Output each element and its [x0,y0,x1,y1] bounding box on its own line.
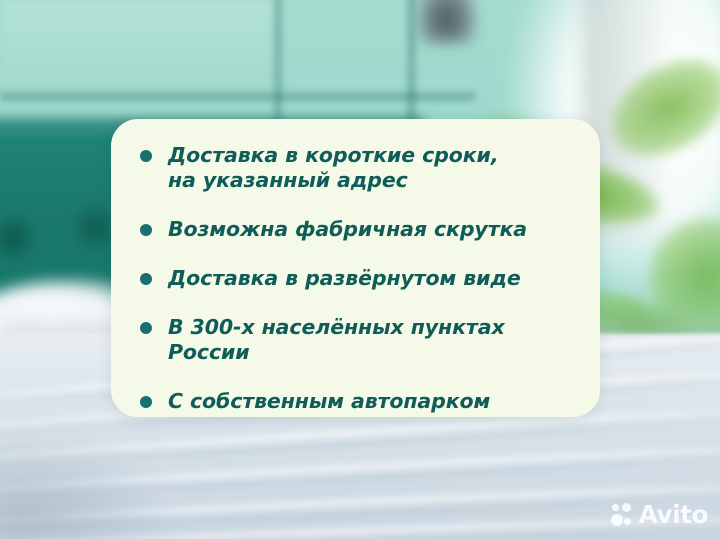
list-item: С собственным автопарком [140,389,586,414]
list-item-label: Доставка в развёрнутом виде [168,266,521,291]
list-item: Возможна фабричная скрутка [140,217,586,242]
list-item-label: Возможна фабричная скрутка [168,217,527,242]
bullet-dot-icon [140,322,152,334]
list-item-label: С собственным автопарком [168,389,490,414]
list-item-label: В 300-х населённых пунктах России [168,315,586,365]
avito-wordmark: Avito [639,502,708,527]
avito-logo-icon [611,503,634,526]
wall-object [418,0,476,43]
wall-panel-face-left [0,0,274,92]
wall-moulding-horizontal-1 [0,92,475,101]
features-bullet-list: Доставка в короткие сроки, на указанный … [140,143,586,414]
mattress-corner-shadow [0,431,173,539]
bullet-dot-icon [140,273,152,285]
bullet-dot-icon [140,224,152,236]
listing-image: Доставка в короткие сроки, на указанный … [0,0,720,539]
list-item: В 300-х населённых пунктах России [140,315,586,365]
features-card: Доставка в короткие сроки, на указанный … [111,119,600,417]
avito-watermark: Avito [611,502,708,527]
bullet-dot-icon [140,150,152,162]
list-item: Доставка в короткие сроки, на указанный … [140,143,586,193]
bullet-dot-icon [140,396,152,408]
list-item-label: Доставка в короткие сроки, на указанный … [168,143,499,193]
list-item: Доставка в развёрнутом виде [140,266,586,291]
